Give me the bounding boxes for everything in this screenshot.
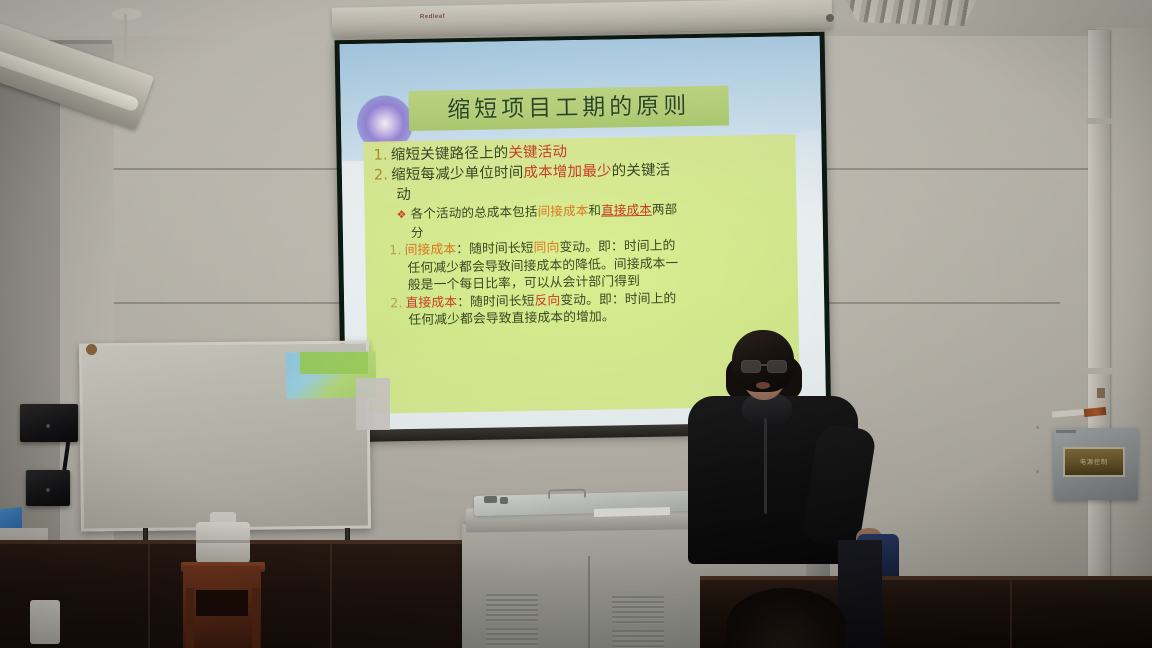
ceiling-mount-brackets xyxy=(846,0,976,26)
wall-screw-1 xyxy=(1036,426,1039,429)
bullet-2-number: 2. xyxy=(374,167,392,183)
trunking-joint-upper xyxy=(1086,118,1112,124)
whiteboard-knob[interactable] xyxy=(86,344,97,355)
lectern-vent-2 xyxy=(486,628,538,648)
lectern-handle-left[interactable] xyxy=(548,489,586,499)
item-1-seg-2: 同向 xyxy=(533,240,559,255)
item-2-seg-3: 变动。即：时间上的 xyxy=(560,291,676,308)
bullet-1-seg-1: 关键活动 xyxy=(508,144,567,161)
bullet-1-number: 1. xyxy=(373,147,391,163)
water-cooler-jug xyxy=(196,522,250,566)
light-suspension-rod xyxy=(124,14,127,60)
screen-brand-label: Redleaf xyxy=(420,14,445,20)
trunking-joint-lower xyxy=(1086,368,1112,374)
eyeglass-lens-right xyxy=(767,360,787,373)
projector-overspill-pale xyxy=(356,378,390,430)
stool-shelf-gap xyxy=(196,590,248,616)
panelling-seam-2 xyxy=(330,544,332,648)
diamond-bullet-icon: ❖ xyxy=(396,208,410,221)
bullet-2-continuation: 动 xyxy=(374,187,411,204)
presenter-mouth xyxy=(756,382,770,389)
item-1-number: 1. xyxy=(389,243,405,258)
water-jug-band xyxy=(196,540,250,543)
projector-overspill-green xyxy=(300,352,368,374)
item-2-cont-line-1: 任何减少都会导致直接成本的增加。 xyxy=(390,309,615,328)
lectern-vent-3 xyxy=(612,596,664,624)
stool-leg-right xyxy=(252,588,260,648)
slide-title: 缩短项目工期的原则 xyxy=(418,88,719,129)
speaker-dot-icon xyxy=(46,424,50,428)
stool-leg-left xyxy=(186,588,194,648)
item-1-seg-1: ：随时间长短 xyxy=(456,241,534,257)
speaker-dot-icon-lower xyxy=(46,488,50,492)
lectern-latch-2[interactable] xyxy=(500,497,508,504)
control-box-label-text: 电源控制 xyxy=(1068,457,1120,466)
presenter xyxy=(660,330,890,560)
panelling-seam-right xyxy=(1010,580,1012,648)
eyeglasses-icon xyxy=(740,360,788,372)
bullet-2-seg-0: 缩短每减少单位时间 xyxy=(391,165,524,183)
white-jug xyxy=(30,600,60,644)
lectern-door-seam xyxy=(588,556,590,648)
bullet-1-seg-0: 缩短关键路径上的 xyxy=(391,145,509,163)
wall-screw-2 xyxy=(1036,470,1039,473)
lectern-vent-1 xyxy=(486,594,538,622)
item-1-seg-3: 变动。即：时间上的 xyxy=(559,238,675,255)
bullet-2-seg-2: 的关键活 xyxy=(612,162,671,179)
control-box-tag xyxy=(1056,430,1076,433)
eyeglass-lens-left xyxy=(741,360,761,373)
eyeglass-bridge xyxy=(759,364,767,366)
item-2-seg-0: 直接成本 xyxy=(405,295,457,311)
lectern-vent-4 xyxy=(612,630,664,648)
lectern-latch-1[interactable] xyxy=(484,496,497,503)
classroom-scene: Redleaf 缩短项目工期的原则 1.缩短关键路径上的关键活动 2.缩短每减少… xyxy=(0,0,1152,648)
panelling-cap-right xyxy=(700,576,1152,580)
presenter-zipper xyxy=(764,418,767,514)
subbullet-seg-4: 两部 xyxy=(652,201,678,216)
subbullet-seg-3: 直接成本 xyxy=(601,202,652,218)
wall-speaker-lower xyxy=(26,470,70,506)
trunking-clip xyxy=(1097,388,1105,398)
item-2-seg-1: ：随时间长短 xyxy=(457,293,535,309)
item-1-seg-0: 间接成本 xyxy=(405,242,457,258)
subbullet-seg-1: 间接成本 xyxy=(538,203,589,219)
subbullet-seg-2: 和 xyxy=(588,203,601,218)
item-2-seg-2: 反向 xyxy=(534,293,560,308)
item-2-number: 2. xyxy=(390,296,406,311)
light-canopy xyxy=(112,8,142,20)
wall-speaker-upper xyxy=(20,404,78,442)
bullet-2-seg-1: 成本增加最少 xyxy=(523,163,611,181)
subbullet-seg-0: 各个活动的总成本包括 xyxy=(411,204,538,221)
panelling-seam-1 xyxy=(148,544,150,648)
subbullet-continuation: 分 xyxy=(397,225,424,240)
item-1-cont-line-2: 般是一个每日比率，可以从会计部门得到 xyxy=(390,274,640,293)
